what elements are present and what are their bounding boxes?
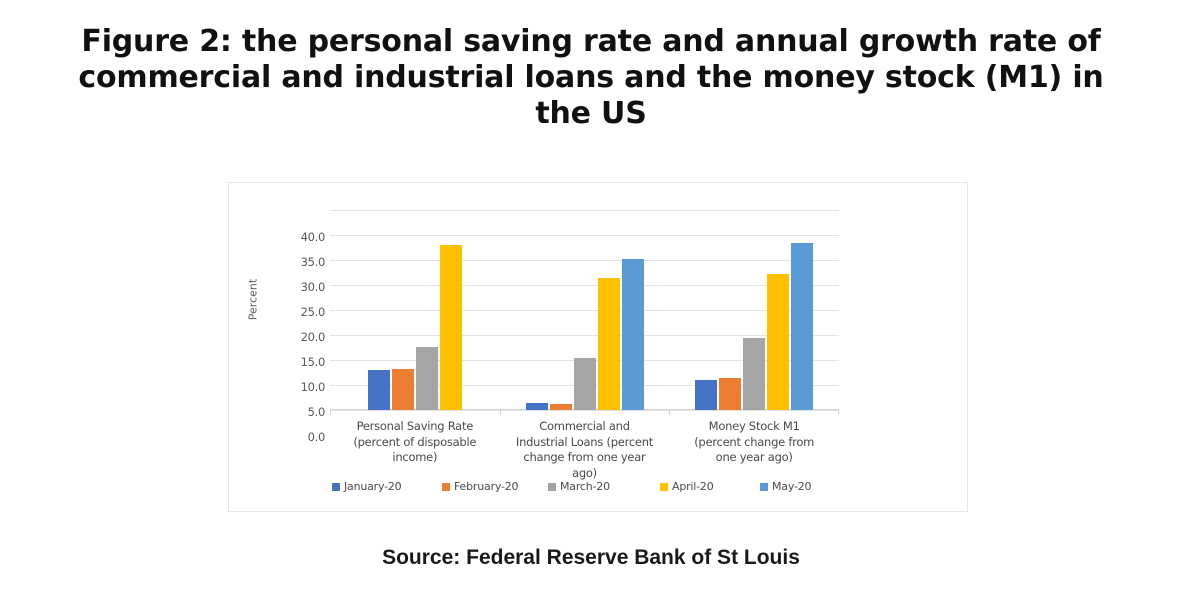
category-label-line: ago) — [500, 466, 670, 482]
bar — [719, 378, 741, 411]
legend-label: January-20 — [344, 480, 401, 493]
category-label-line: Industrial Loans (percent — [500, 435, 670, 451]
bar — [574, 358, 596, 411]
chart-container: Percent 40.035.030.025.020.015.010.05.00… — [228, 182, 968, 512]
category-label-line: (percent of disposable — [330, 435, 500, 451]
bar — [791, 243, 813, 411]
category-separator-tick — [330, 409, 331, 415]
bar — [695, 380, 717, 411]
bar — [526, 403, 548, 411]
gridline — [330, 260, 839, 261]
legend-swatch-icon — [760, 483, 768, 491]
legend-swatch-icon — [442, 483, 450, 491]
legend-label: March-20 — [560, 480, 610, 493]
gridline — [330, 285, 839, 286]
y-axis-tick-label: 10.0 — [263, 380, 325, 394]
bar — [622, 259, 644, 410]
bar — [767, 274, 789, 410]
figure-title: Figure 2: the personal saving rate and a… — [50, 24, 1132, 132]
legend-item[interactable]: January-20 — [332, 480, 401, 493]
category-label-line: income) — [330, 450, 500, 466]
x-axis-category-labels: Personal Saving Rate(percent of disposab… — [330, 419, 839, 481]
plot-area — [330, 210, 839, 410]
x-axis-category-label: Commercial andIndustrial Loans (percentc… — [500, 419, 670, 481]
y-axis-tick-label: 20.0 — [263, 330, 325, 344]
bar — [392, 369, 414, 411]
gridline — [330, 410, 839, 411]
category-separator-tick — [838, 409, 839, 415]
bar — [550, 404, 572, 411]
legend-swatch-icon — [548, 483, 556, 491]
legend-item[interactable]: March-20 — [548, 480, 610, 493]
category-separator-tick — [500, 409, 501, 415]
bar — [416, 347, 438, 411]
legend-item[interactable]: April-20 — [660, 480, 714, 493]
category-label-line: Commercial and — [500, 419, 670, 435]
y-axis-tick-label: 25.0 — [263, 305, 325, 319]
y-axis-title-label: Percent — [247, 268, 260, 332]
bar — [598, 278, 620, 411]
x-axis-category-label: Personal Saving Rate(percent of disposab… — [330, 419, 500, 466]
gridline — [330, 335, 839, 336]
bar — [440, 245, 462, 410]
legend-label: February-20 — [454, 480, 518, 493]
gridline — [330, 210, 839, 211]
category-label-line: Personal Saving Rate — [330, 419, 500, 435]
gridline — [330, 310, 839, 311]
legend-swatch-icon — [660, 483, 668, 491]
legend-item[interactable]: February-20 — [442, 480, 518, 493]
category-label-line: one year ago) — [669, 450, 839, 466]
y-axis-tick-label: 40.0 — [263, 230, 325, 244]
y-axis-tick-label: 30.0 — [263, 280, 325, 294]
legend-label: April-20 — [672, 480, 714, 493]
category-label-line: change from one year — [500, 450, 670, 466]
legend-swatch-icon — [332, 483, 340, 491]
y-axis-tick-label: 0.0 — [263, 430, 325, 444]
y-axis-tick-labels: 40.035.030.025.020.015.010.05.00.0 — [259, 210, 325, 410]
category-label-line: (percent change from — [669, 435, 839, 451]
x-axis-category-label: Money Stock M1(percent change fromone ye… — [669, 419, 839, 466]
chart-legend: January-20February-20March-20April-20May… — [330, 480, 839, 498]
bar — [368, 370, 390, 410]
y-axis-tick-label: 5.0 — [263, 405, 325, 419]
category-separator-tick — [669, 409, 670, 415]
gridline — [330, 235, 839, 236]
bar — [743, 338, 765, 411]
category-label-line: Money Stock M1 — [669, 419, 839, 435]
y-axis-tick-label: 35.0 — [263, 255, 325, 269]
legend-item[interactable]: May-20 — [760, 480, 811, 493]
source-caption: Source: Federal Reserve Bank of St Louis — [0, 546, 1182, 570]
legend-label: May-20 — [772, 480, 811, 493]
y-axis-tick-label: 15.0 — [263, 355, 325, 369]
